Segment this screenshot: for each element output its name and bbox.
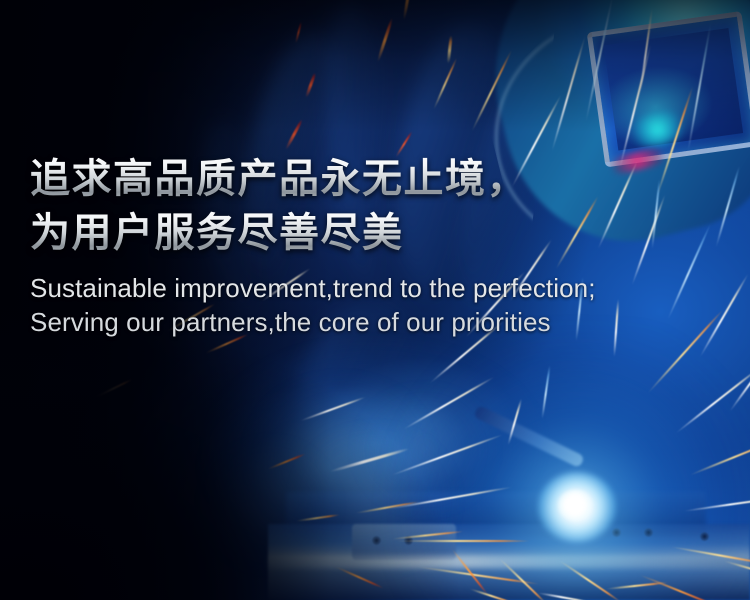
welding-hero-banner: 追求高品质产品永无止境， 为用户服务尽善尽美 Sustainable impro…	[0, 0, 750, 600]
spark	[295, 22, 303, 44]
spark	[376, 17, 393, 62]
headline-line-2: 为用户服务尽善尽美	[30, 206, 730, 260]
weld-arc-halo	[380, 330, 750, 600]
spark	[300, 396, 367, 422]
headline-line-1: 追求高品质产品永无止境，	[30, 152, 730, 206]
spark	[285, 119, 304, 150]
spark	[305, 72, 316, 97]
weld-arc-hotspot	[558, 490, 592, 520]
banner-copy: 追求高品质产品永无止境， 为用户服务尽善尽美 Sustainable impro…	[30, 152, 730, 339]
spark	[96, 379, 133, 398]
subhead-block: Sustainable improvement,trend to the per…	[30, 271, 730, 339]
spark	[433, 57, 458, 109]
helmet-visor-window	[587, 11, 750, 167]
subhead-line-2: Serving our partners,the core of our pri…	[30, 305, 730, 339]
spark	[403, 0, 413, 20]
spark	[447, 35, 453, 63]
spark	[268, 453, 306, 470]
subhead-line-1: Sustainable improvement,trend to the per…	[30, 271, 730, 305]
